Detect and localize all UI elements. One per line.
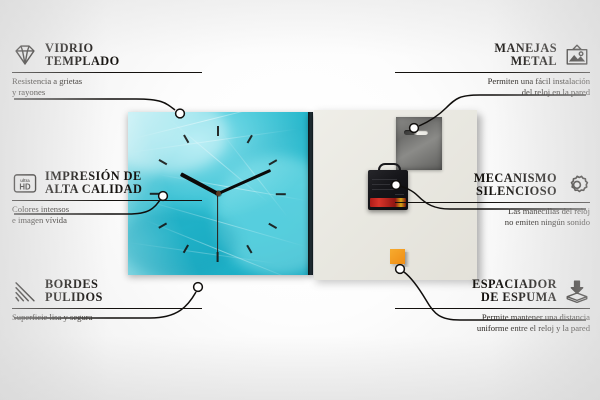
clock-side-edge xyxy=(308,112,313,275)
hanging-picture-icon xyxy=(564,43,590,67)
feature-description: Permite mantener una distancia uniforme … xyxy=(395,312,590,333)
feature-vidrio-templado[interactable]: VIDRIO TEMPLADO Resistencia a grietas y … xyxy=(12,42,202,97)
divider xyxy=(12,308,202,309)
feature-description: Superficie lisa y segura xyxy=(12,312,202,322)
divider xyxy=(395,202,590,203)
hanger-slot xyxy=(404,130,428,135)
feature-impresion-alta-calidad[interactable]: ultra HD IMPRESIÓN DE ALTA CALIDAD Color… xyxy=(12,170,202,225)
feature-title: MANEJAS METAL xyxy=(494,42,557,69)
feature-title: ESPACIADOR DE ESPUMA xyxy=(472,278,557,305)
feature-title: BORDES PULIDOS xyxy=(45,278,103,305)
infographic-canvas: VIDRIO TEMPLADO Resistencia a grietas y … xyxy=(0,0,600,400)
feature-title: MECANISMO SILENCIOSO xyxy=(474,172,557,199)
clock-center-cap xyxy=(216,191,221,196)
svg-text:HD: HD xyxy=(19,183,31,192)
ultra-hd-icon: ultra HD xyxy=(12,171,38,195)
divider xyxy=(395,308,590,309)
feature-mecanismo-silencioso[interactable]: MECANISMO SILENCIOSO Las manecillas del … xyxy=(395,172,590,227)
gear-icon xyxy=(564,173,590,197)
foam-spacer-icon xyxy=(564,279,590,303)
divider xyxy=(12,72,202,73)
feature-title: VIDRIO TEMPLADO xyxy=(45,42,120,69)
feature-espaciador-espuma[interactable]: ESPACIADOR DE ESPUMA Permite mantener un… xyxy=(395,278,590,333)
feature-title: IMPRESIÓN DE ALTA CALIDAD xyxy=(45,170,142,197)
divider xyxy=(12,200,202,201)
feature-description: Resistencia a grietas y rayones xyxy=(12,76,202,97)
feature-bordes-pulidos[interactable]: BORDES PULIDOS Superficie lisa y segura xyxy=(12,278,202,323)
feature-manejas-metal[interactable]: MANEJAS METAL Permiten una fácil instala… xyxy=(395,42,590,97)
feature-description: Las manecillas del reloj no emiten ningú… xyxy=(395,206,590,227)
feature-description: Colores intensos e imagen vívida xyxy=(12,204,202,225)
polished-edge-icon xyxy=(12,279,38,303)
diamond-icon xyxy=(12,43,38,67)
divider xyxy=(395,72,590,73)
metal-hanger-plate xyxy=(396,117,442,170)
feature-description: Permiten una fácil instalación del reloj… xyxy=(395,76,590,97)
foam-spacer xyxy=(390,249,405,264)
